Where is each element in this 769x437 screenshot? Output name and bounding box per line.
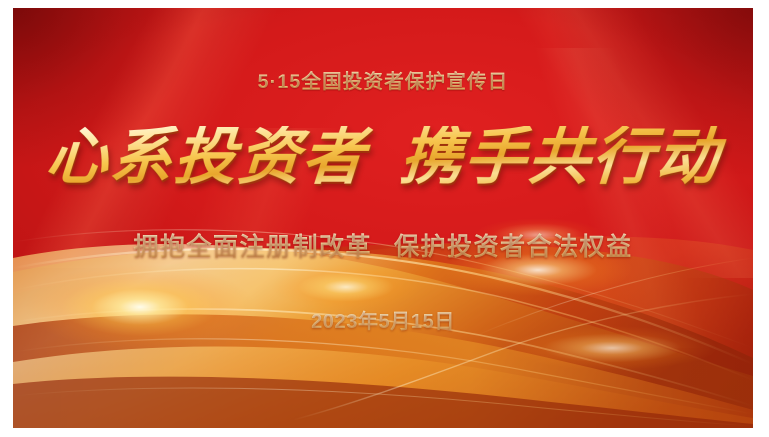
headline-part-2: 携手共行动: [398, 124, 723, 192]
poster-root: 5·15全国投资者保护宣传日 心系投资者携手共行动 拥抱全面注册制改革保护投资者…: [0, 0, 769, 437]
poster-headline: 心系投资者携手共行动: [13, 126, 753, 190]
poster-banner: 5·15全国投资者保护宣传日 心系投资者携手共行动 拥抱全面注册制改革保护投资者…: [13, 8, 753, 428]
poster-text-layer: 5·15全国投资者保护宣传日 心系投资者携手共行动 拥抱全面注册制改革保护投资者…: [13, 8, 753, 428]
headline-part-1: 心系投资者: [44, 124, 369, 192]
poster-eyebrow: 5·15全国投资者保护宣传日: [13, 65, 753, 94]
subline-part-2: 保护投资者合法权益: [394, 233, 633, 261]
poster-subline: 拥抱全面注册制改革保护投资者合法权益: [13, 227, 753, 263]
subline-part-1: 拥抱全面注册制改革: [133, 233, 372, 261]
poster-date: 2023年5月15日: [13, 305, 753, 334]
